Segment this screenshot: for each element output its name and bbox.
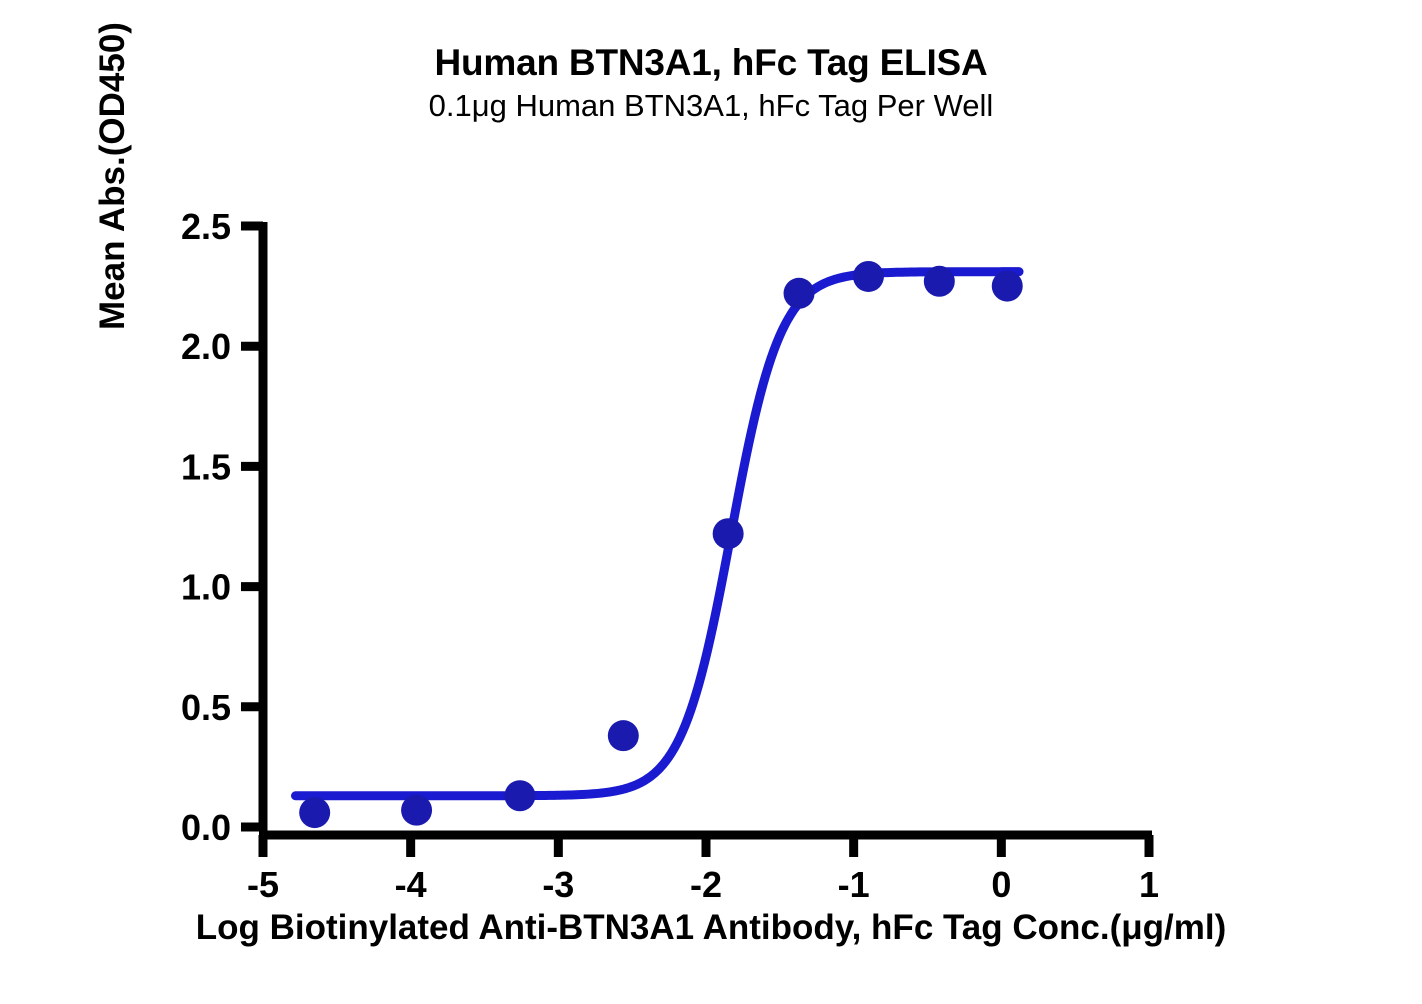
- x-tick-label: -4: [395, 864, 427, 905]
- x-tick-label: 0: [991, 864, 1011, 905]
- data-point: [924, 266, 955, 297]
- y-tick-label: 1.5: [181, 446, 231, 487]
- data-point: [992, 271, 1023, 302]
- data-point: [608, 720, 639, 751]
- y-tick-label: 1.0: [181, 567, 231, 608]
- x-tick-label: -2: [690, 864, 722, 905]
- data-point: [784, 278, 815, 309]
- x-axis-tick-labels: -5-4-3-2-101: [247, 864, 1159, 905]
- x-tick-label: -1: [838, 864, 870, 905]
- data-point-markers: [299, 261, 1023, 828]
- x-tick-label: -3: [542, 864, 574, 905]
- data-point: [853, 261, 884, 292]
- data-point: [504, 780, 535, 811]
- y-tick-label: 2.5: [181, 206, 231, 247]
- x-tick-label: -5: [247, 864, 279, 905]
- data-point: [401, 795, 432, 826]
- y-tick-label: 0.0: [181, 807, 231, 848]
- plot-area: 0.00.51.01.52.02.5 -5-4-3-2-101: [0, 0, 1422, 1004]
- y-tick-label: 0.5: [181, 687, 231, 728]
- axis-lines: [259, 222, 1152, 835]
- y-tick-label: 2.0: [181, 326, 231, 367]
- y-axis-tick-labels: 0.00.51.01.52.02.5: [181, 206, 231, 848]
- data-point: [299, 797, 330, 828]
- x-tick-label: 1: [1139, 864, 1159, 905]
- elisa-chart-figure: Human BTN3A1, hFc Tag ELISA 0.1μg Human …: [0, 0, 1422, 1004]
- data-point: [713, 518, 744, 549]
- fit-curve: [295, 272, 1019, 796]
